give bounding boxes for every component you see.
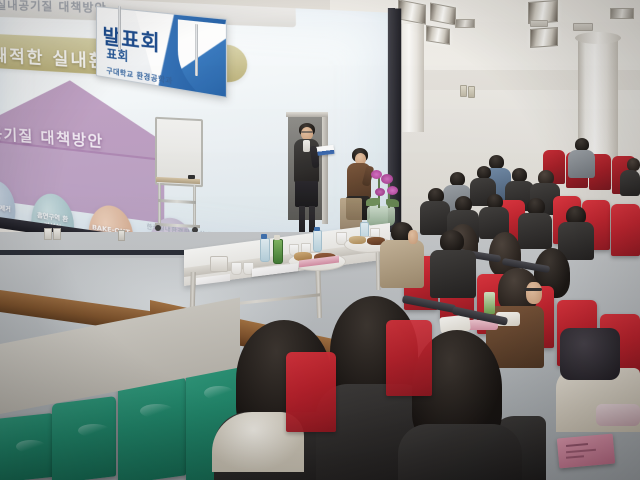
audience-head	[440, 230, 464, 252]
audience-torso	[568, 150, 595, 178]
ceiling-vent-icon	[530, 20, 548, 27]
seat-middle-row[interactable]	[611, 204, 640, 256]
ceiling-light-fixture-icon	[455, 19, 475, 28]
audience-torso	[620, 170, 640, 196]
foreground-dark-bag	[560, 328, 620, 380]
ceiling-light-fixture-icon	[610, 8, 634, 19]
snack-can-icon[interactable]	[484, 292, 495, 314]
audience-glasses-icon	[524, 288, 542, 291]
audience-torso	[430, 250, 476, 298]
ceiling-vent-icon	[573, 23, 593, 31]
orchid-flower-icon	[387, 186, 398, 195]
front-bench-seat[interactable]	[52, 396, 116, 480]
audience-torso	[420, 201, 450, 235]
foreground-body-right	[398, 424, 522, 480]
seat-highlight	[140, 404, 174, 418]
whiteboard-marker-icon[interactable]	[188, 175, 195, 179]
seat-foreground-red[interactable]	[286, 352, 336, 432]
door-frame-top	[286, 112, 328, 117]
whiteboard-leg-right	[193, 185, 196, 227]
photo-scene: 실내공기질 대책방안 쾌적한 실내환경 실내공기질 대책방안 오염원 제거 흡연…	[0, 0, 640, 480]
orchid-leaf-icon	[366, 198, 380, 206]
whiteboard-leg-left	[158, 183, 161, 225]
green-bottle-cap-icon	[274, 235, 280, 240]
audience-head	[489, 155, 504, 169]
whiteboard-wheel-icon	[155, 225, 161, 231]
floor-outlet-icon	[118, 230, 125, 241]
speaker-glasses-icon	[301, 131, 313, 133]
speaker-skirt	[295, 181, 318, 207]
audience-torso	[518, 213, 552, 249]
seat-highlight	[204, 386, 234, 400]
slide-oval-1-label: 오염원 제거	[0, 202, 14, 216]
water-bottle-icon[interactable]	[260, 238, 270, 262]
water-bottle-cap-icon	[261, 234, 267, 239]
tissue-box-icon	[210, 256, 228, 272]
door-frame-right	[322, 112, 328, 224]
light-switch-plate-icon[interactable]	[468, 86, 475, 98]
water-bottle-cap-icon	[314, 227, 320, 231]
green-bottle-icon[interactable]	[273, 239, 283, 264]
audience-head	[512, 168, 527, 182]
seat-highlight	[16, 440, 46, 453]
staff-chair	[340, 198, 362, 230]
orchid-flower-icon	[375, 188, 385, 196]
banner-hanging-rod-right	[195, 24, 198, 76]
floor-outlet-icon	[44, 228, 52, 240]
seat-highlight	[78, 424, 110, 437]
front-bench-seat[interactable]	[118, 377, 186, 480]
light-switch-plate-icon[interactable]	[460, 85, 467, 97]
food-item-icon	[349, 236, 366, 244]
foreground-attendee-right-scarf	[596, 404, 640, 426]
audience-head	[450, 172, 465, 186]
ceiling-light-fixture-icon	[530, 27, 558, 48]
water-bottle-icon[interactable]	[313, 230, 322, 252]
orchid-flower-icon	[381, 174, 393, 184]
audience-face	[408, 230, 418, 244]
orchid-leaf-icon	[386, 199, 399, 207]
paper-cup-icon[interactable]	[231, 262, 242, 275]
column-right-cap	[575, 32, 621, 44]
audience-torso	[380, 240, 424, 288]
seat-foreground-red[interactable]	[386, 320, 432, 396]
speaker-shirt	[303, 140, 310, 152]
floor-outlet-icon	[53, 228, 61, 240]
banner-hanging-rod-left	[118, 6, 121, 51]
audience-face	[526, 282, 542, 304]
